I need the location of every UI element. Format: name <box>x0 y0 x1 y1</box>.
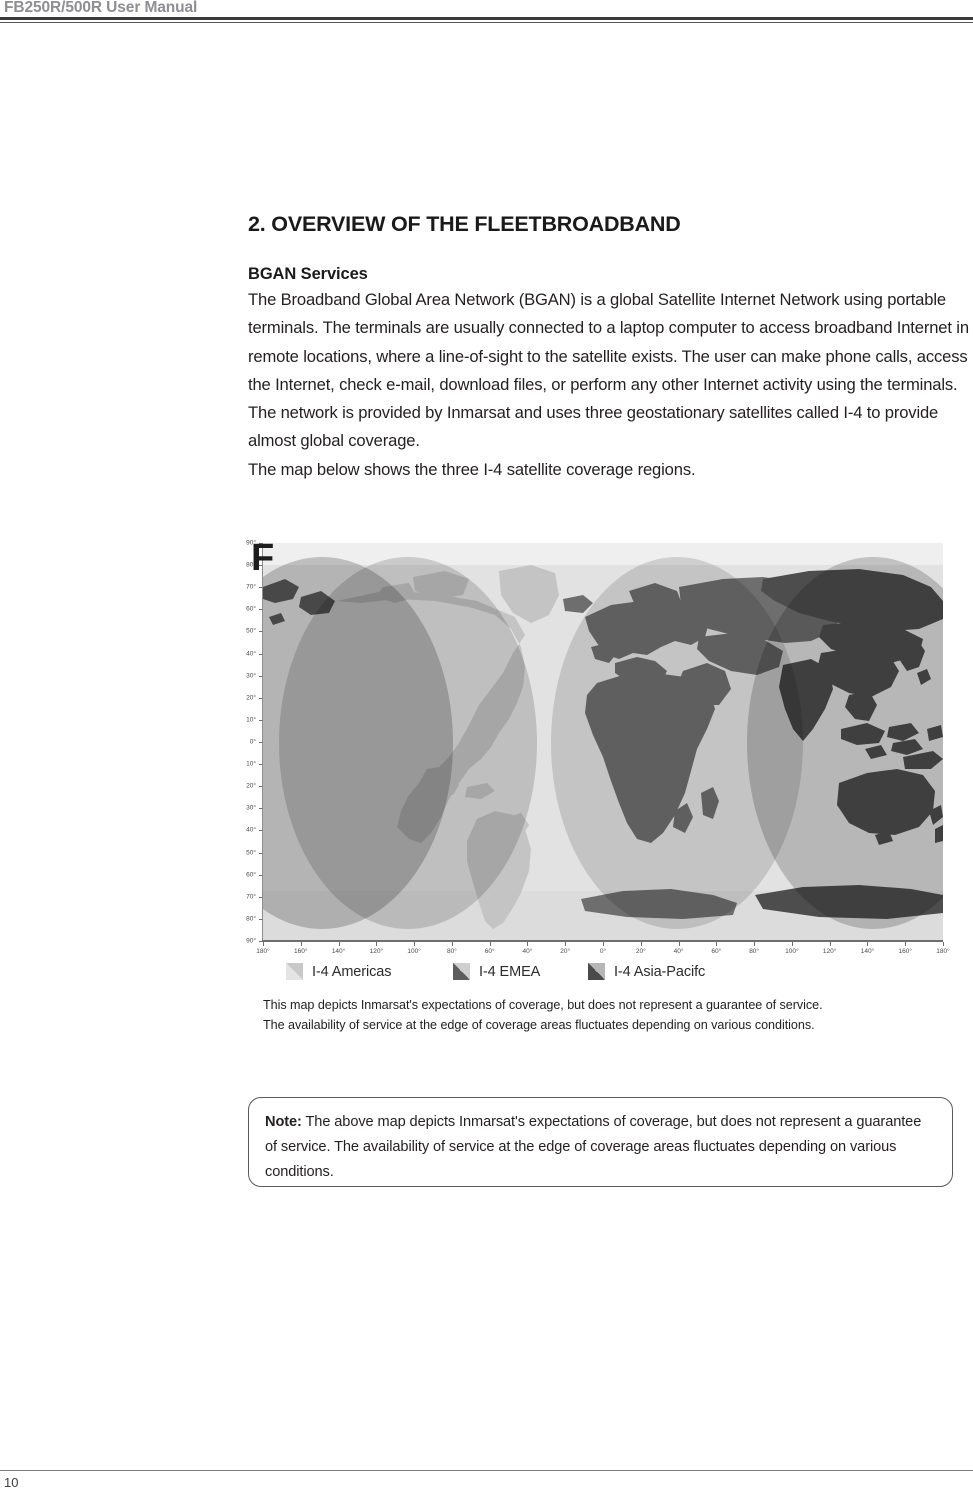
map-x-tick-label: 60° <box>485 948 495 955</box>
map-y-tick-label: 60° <box>246 606 256 613</box>
map-y-tick-label: 30° <box>246 805 256 812</box>
map-y-tick-label: 70° <box>246 584 256 591</box>
note-label: Note: <box>265 1114 302 1130</box>
map-x-tick-mark <box>754 942 755 946</box>
body-paragraph: The Broadband Global Area Network (BGAN)… <box>248 286 970 456</box>
map-y-tick-label: 40° <box>246 650 256 657</box>
map-frame: 90°80°70°60°50°40°30°20°10°0°10°20°30°40… <box>240 543 943 951</box>
map-plot-area <box>263 543 943 941</box>
map-x-tick-label: 0° <box>600 948 606 955</box>
map-x-tick-mark <box>830 942 831 946</box>
map-x-tick-label: 80° <box>749 948 759 955</box>
map-x-tick-label: 120° <box>823 948 836 955</box>
map-x-tick-label: 40° <box>523 948 533 955</box>
map-x-tick-label: 160° <box>898 948 911 955</box>
subsection-title: BGAN Services <box>248 265 970 284</box>
map-x-tick-mark <box>527 942 528 946</box>
map-x-tick-mark <box>943 942 944 946</box>
section-title: 2. OVERVIEW OF THE FLEETBROADBAND <box>248 212 970 237</box>
map-x-tick-label: 100° <box>785 948 798 955</box>
map-y-tick-label: 50° <box>246 849 256 856</box>
map-y-tick-label: 90° <box>246 938 256 945</box>
legend-label-asia-pacific: I-4 Asia-Pacifc <box>614 964 705 980</box>
map-y-tick-label: 70° <box>246 893 256 900</box>
map-x-axis: 180°160°140°120°100°80°60°40°20°0°20°40°… <box>263 942 943 958</box>
map-x-tick-mark <box>905 942 906 946</box>
map-y-tick-label: 40° <box>246 827 256 834</box>
legend-item-americas: I-4 Americas <box>286 963 391 980</box>
map-x-tick-label: 20° <box>636 948 646 955</box>
legend-item-emea: I-4 EMEA <box>453 963 540 980</box>
header-rule-thin <box>0 22 973 23</box>
map-x-tick-label: 180° <box>256 948 269 955</box>
map-x-tick-label: 60° <box>711 948 721 955</box>
map-x-tick-mark <box>679 942 680 946</box>
map-caption-line-1: This map depicts Inmarsat's expectations… <box>263 995 963 1015</box>
note-body: The above map depicts Inmarsat's expecta… <box>265 1114 921 1180</box>
map-x-tick-mark <box>792 942 793 946</box>
map-x-tick-mark <box>376 942 377 946</box>
coverage-map-figure: 90°80°70°60°50°40°30°20°10°0°10°20°30°40… <box>240 543 973 951</box>
page-number: 10 <box>4 1475 18 1490</box>
map-x-tick-mark <box>414 942 415 946</box>
stray-f-glyph-artifact: F <box>251 539 274 577</box>
map-y-tick-label: 20° <box>246 694 256 701</box>
note-box: Note: The above map depicts Inmarsat's e… <box>248 1097 953 1187</box>
map-y-tick-label: 60° <box>246 871 256 878</box>
map-y-tick-label: 10° <box>246 716 256 723</box>
note-text: Note: The above map depicts Inmarsat's e… <box>265 1110 930 1185</box>
map-x-tick-label: 80° <box>447 948 457 955</box>
map-y-tick-label: 10° <box>246 761 256 768</box>
map-x-tick-label: 120° <box>370 948 383 955</box>
legend-label-americas: I-4 Americas <box>312 964 391 980</box>
content-column: 2. OVERVIEW OF THE FLEETBROADBAND BGAN S… <box>248 212 970 484</box>
footer-rule <box>0 1470 973 1471</box>
map-x-tick-mark <box>603 942 604 946</box>
map-caption-line-2: The availability of service at the edge … <box>263 1015 963 1035</box>
legend-swatch-asia-pacific-icon <box>588 963 605 980</box>
map-x-tick-label: 160° <box>294 948 307 955</box>
map-legend: I-4 Americas I-4 EMEA I-4 Asia-Pacifc <box>263 963 943 987</box>
map-x-tick-label: 20° <box>560 948 570 955</box>
map-y-tick-label: 20° <box>246 783 256 790</box>
legend-swatch-americas-icon <box>286 963 303 980</box>
body-paragraph-2: The map below shows the three I-4 satell… <box>248 456 970 484</box>
map-x-tick-mark <box>339 942 340 946</box>
map-x-tick-mark <box>301 942 302 946</box>
legend-swatch-emea-icon <box>453 963 470 980</box>
map-y-tick-label: 30° <box>246 672 256 679</box>
map-x-tick-mark <box>867 942 868 946</box>
beam-americas-inner <box>279 557 537 929</box>
map-x-tick-mark <box>641 942 642 946</box>
header-rule-thick <box>0 17 973 20</box>
map-y-axis: 90°80°70°60°50°40°30°20°10°0°10°20°30°40… <box>240 543 263 941</box>
legend-item-asia-pacific: I-4 Asia-Pacifc <box>588 963 705 980</box>
map-y-tick-label: 80° <box>246 915 256 922</box>
map-x-tick-label: 180° <box>936 948 949 955</box>
map-y-tick-label: 0° <box>250 739 256 746</box>
map-x-tick-label: 140° <box>332 948 345 955</box>
map-x-tick-mark <box>452 942 453 946</box>
map-x-tick-mark <box>565 942 566 946</box>
map-x-tick-label: 40° <box>674 948 684 955</box>
legend-label-emea: I-4 EMEA <box>479 964 540 980</box>
map-x-tick-mark <box>263 942 264 946</box>
map-x-tick-mark <box>490 942 491 946</box>
map-caption: This map depicts Inmarsat's expectations… <box>263 995 963 1035</box>
map-x-tick-mark <box>716 942 717 946</box>
header-title: FB250R/500R User Manual <box>4 0 197 17</box>
map-y-tick-label: 50° <box>246 628 256 635</box>
map-x-tick-label: 140° <box>861 948 874 955</box>
map-x-tick-label: 100° <box>407 948 420 955</box>
page-header: FB250R/500R User Manual <box>0 0 973 24</box>
